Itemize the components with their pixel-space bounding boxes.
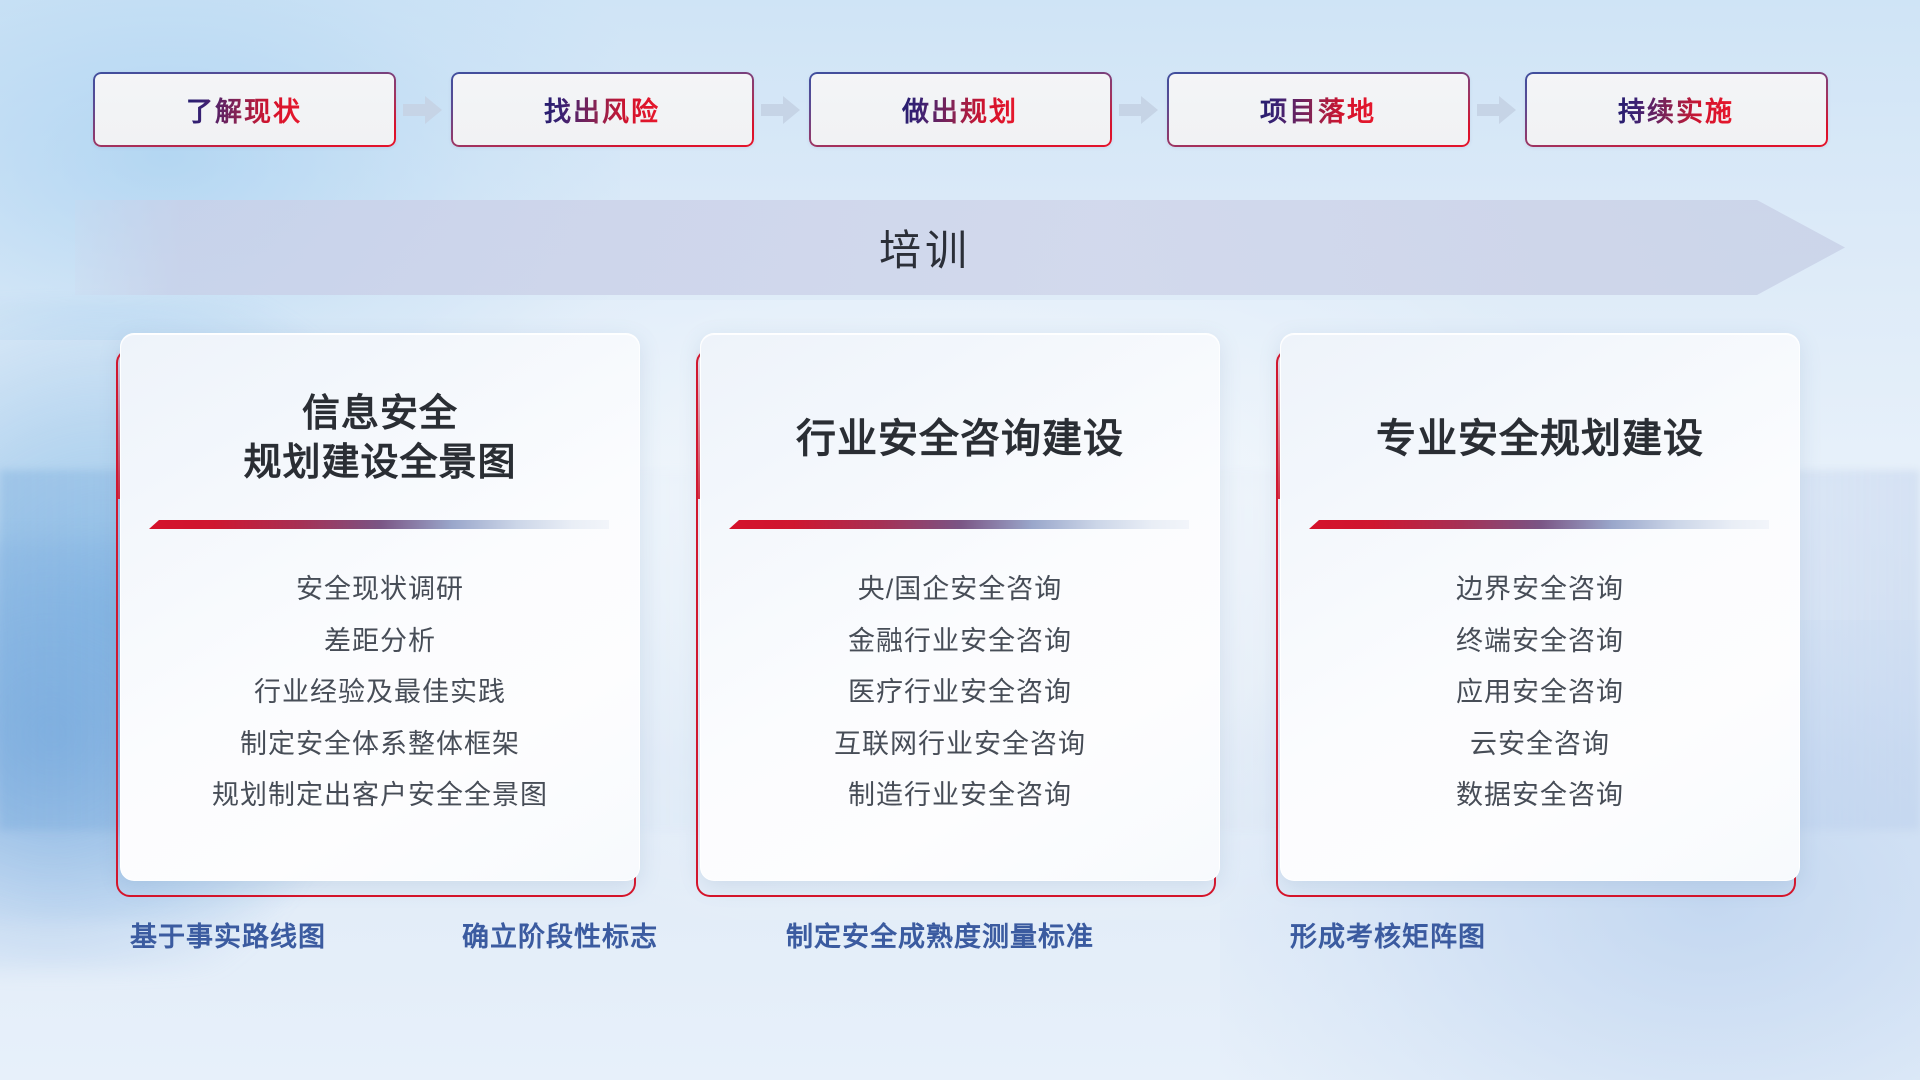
arrow-right-icon bbox=[1112, 72, 1167, 147]
list-item: 数据安全咨询 bbox=[1456, 775, 1624, 816]
card-item-list: 边界安全咨询 终端安全咨询 应用安全咨询 云安全咨询 数据安全咨询 bbox=[1281, 569, 1799, 816]
process-step-5[interactable]: 持续实施 bbox=[1525, 72, 1828, 147]
list-item: 终端安全咨询 bbox=[1456, 621, 1624, 662]
arrow-right-icon bbox=[1470, 72, 1525, 147]
list-item: 央/国企安全咨询 bbox=[858, 569, 1063, 610]
process-step-2[interactable]: 找出风险 bbox=[451, 72, 754, 147]
arrow-right-icon bbox=[754, 72, 809, 147]
card-title-line: 规划建设全景图 bbox=[243, 442, 516, 484]
process-step-label: 找出风险 bbox=[544, 90, 660, 129]
list-item: 行业经验及最佳实践 bbox=[254, 672, 506, 713]
process-step-label: 持续实施 bbox=[1618, 90, 1734, 129]
card-title: 信息安全 规划建设全景图 bbox=[121, 364, 639, 514]
process-step-label: 项目落地 bbox=[1260, 90, 1376, 129]
process-step-4[interactable]: 项目落地 bbox=[1167, 72, 1470, 147]
process-step-row: 了解现状 找出风险 做出规划 项目落地 持续实施 bbox=[0, 72, 1920, 147]
card-industry-security-consulting[interactable]: 行业安全咨询建设 央/国企安全咨询 金融行业安全咨询 医疗行业安全咨询 互联网行… bbox=[700, 333, 1220, 881]
card-divider bbox=[1309, 520, 1769, 529]
card-information-security-blueprint[interactable]: 信息安全 规划建设全景图 安全现状调研 差距分析 行业经验及最佳实践 制定安全体… bbox=[120, 333, 640, 881]
card-title: 行业安全咨询建设 bbox=[701, 364, 1219, 514]
list-item: 制造行业安全咨询 bbox=[848, 775, 1072, 816]
card-title-line: 行业安全咨询建设 bbox=[796, 413, 1124, 465]
bottom-label-milestone: 确立阶段性标志 bbox=[462, 915, 658, 954]
arrow-right-icon bbox=[396, 72, 451, 147]
training-banner: 培训 bbox=[75, 200, 1845, 295]
card-divider-bar bbox=[1309, 520, 1769, 529]
bottom-label-maturity: 制定安全成熟度测量标准 bbox=[786, 915, 1094, 954]
process-step-label: 了解现状 bbox=[186, 90, 302, 129]
bottom-label-roadmap: 基于事实路线图 bbox=[130, 915, 326, 954]
list-item: 安全现状调研 bbox=[296, 569, 464, 610]
card-wrapper: 行业安全咨询建设 央/国企安全咨询 金融行业安全咨询 医疗行业安全咨询 互联网行… bbox=[700, 333, 1220, 881]
list-item: 金融行业安全咨询 bbox=[848, 621, 1072, 662]
card-divider bbox=[729, 520, 1189, 529]
card-wrapper: 信息安全 规划建设全景图 安全现状调研 差距分析 行业经验及最佳实践 制定安全体… bbox=[120, 333, 640, 881]
process-step-label: 做出规划 bbox=[902, 90, 1018, 129]
list-item: 边界安全咨询 bbox=[1456, 569, 1624, 610]
bottom-label-row: 基于事实路线图 确立阶段性标志 制定安全成熟度测量标准 形成考核矩阵图 bbox=[0, 915, 1920, 959]
list-item: 云安全咨询 bbox=[1470, 724, 1610, 765]
card-title-line: 信息安全 bbox=[302, 393, 458, 435]
list-item: 互联网行业安全咨询 bbox=[834, 724, 1086, 765]
card-divider-bar bbox=[729, 520, 1189, 529]
card-title: 专业安全规划建设 bbox=[1281, 364, 1799, 514]
card-divider-bar bbox=[149, 520, 609, 529]
list-item: 医疗行业安全咨询 bbox=[848, 672, 1072, 713]
list-item: 应用安全咨询 bbox=[1456, 672, 1624, 713]
process-step-3[interactable]: 做出规划 bbox=[809, 72, 1112, 147]
bottom-label-matrix: 形成考核矩阵图 bbox=[1290, 915, 1486, 954]
card-row: 信息安全 规划建设全景图 安全现状调研 差距分析 行业经验及最佳实践 制定安全体… bbox=[0, 333, 1920, 881]
process-step-1[interactable]: 了解现状 bbox=[93, 72, 396, 147]
list-item: 差距分析 bbox=[324, 621, 436, 662]
card-wrapper: 专业安全规划建设 边界安全咨询 终端安全咨询 应用安全咨询 云安全咨询 数据安全… bbox=[1280, 333, 1800, 881]
card-divider bbox=[149, 520, 609, 529]
list-item: 规划制定出客户安全全景图 bbox=[212, 775, 548, 816]
card-item-list: 安全现状调研 差距分析 行业经验及最佳实践 制定安全体系整体框架 规划制定出客户… bbox=[121, 569, 639, 816]
banner-label: 培训 bbox=[75, 200, 1845, 295]
list-item: 制定安全体系整体框架 bbox=[240, 724, 520, 765]
card-professional-security-planning[interactable]: 专业安全规划建设 边界安全咨询 终端安全咨询 应用安全咨询 云安全咨询 数据安全… bbox=[1280, 333, 1800, 881]
card-item-list: 央/国企安全咨询 金融行业安全咨询 医疗行业安全咨询 互联网行业安全咨询 制造行… bbox=[701, 569, 1219, 816]
card-title-line: 专业安全规划建设 bbox=[1376, 413, 1704, 465]
